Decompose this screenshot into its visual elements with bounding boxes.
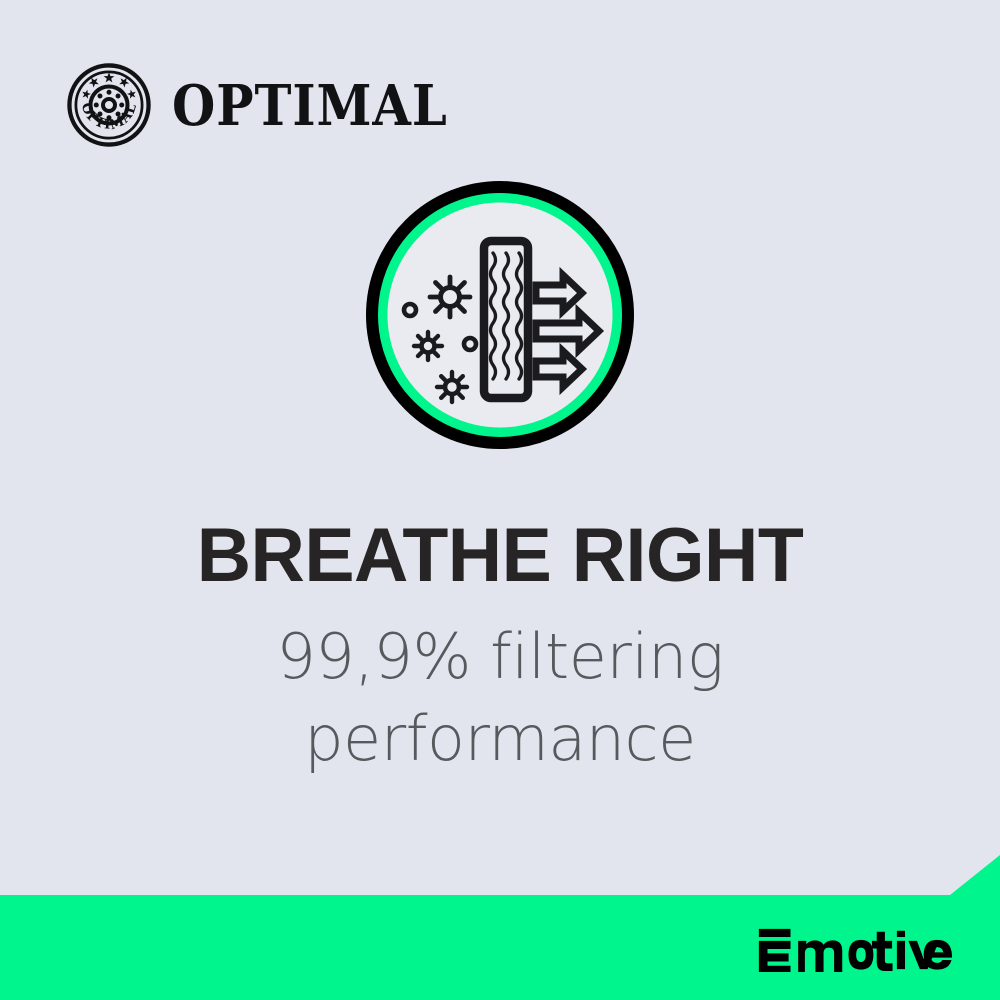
emotive-logo	[756, 926, 957, 972]
filter-membrane	[484, 241, 528, 398]
air-filter-icon	[366, 181, 634, 449]
subtitle: 99,9% filtering performance	[0, 616, 1000, 781]
emotive-logo-glyphs	[759, 929, 952, 972]
copy-block: BREATHE RIGHT 99,9% filtering performanc…	[0, 518, 1000, 781]
brand-wordmark: OPTIMAL	[172, 77, 448, 133]
brand-header: OPTIMAL OPTIMAL	[66, 62, 472, 148]
page-title: BREATHE RIGHT	[5, 518, 995, 594]
subtitle-line-1: 99,9% filtering	[0, 616, 1000, 698]
subtitle-line-2: performance	[0, 698, 1000, 780]
footer-band	[0, 855, 1000, 1000]
optimal-seal-badge-icon: OPTIMAL	[66, 62, 152, 148]
poster-canvas: OPTIMAL OPTIMAL	[0, 0, 1000, 1000]
